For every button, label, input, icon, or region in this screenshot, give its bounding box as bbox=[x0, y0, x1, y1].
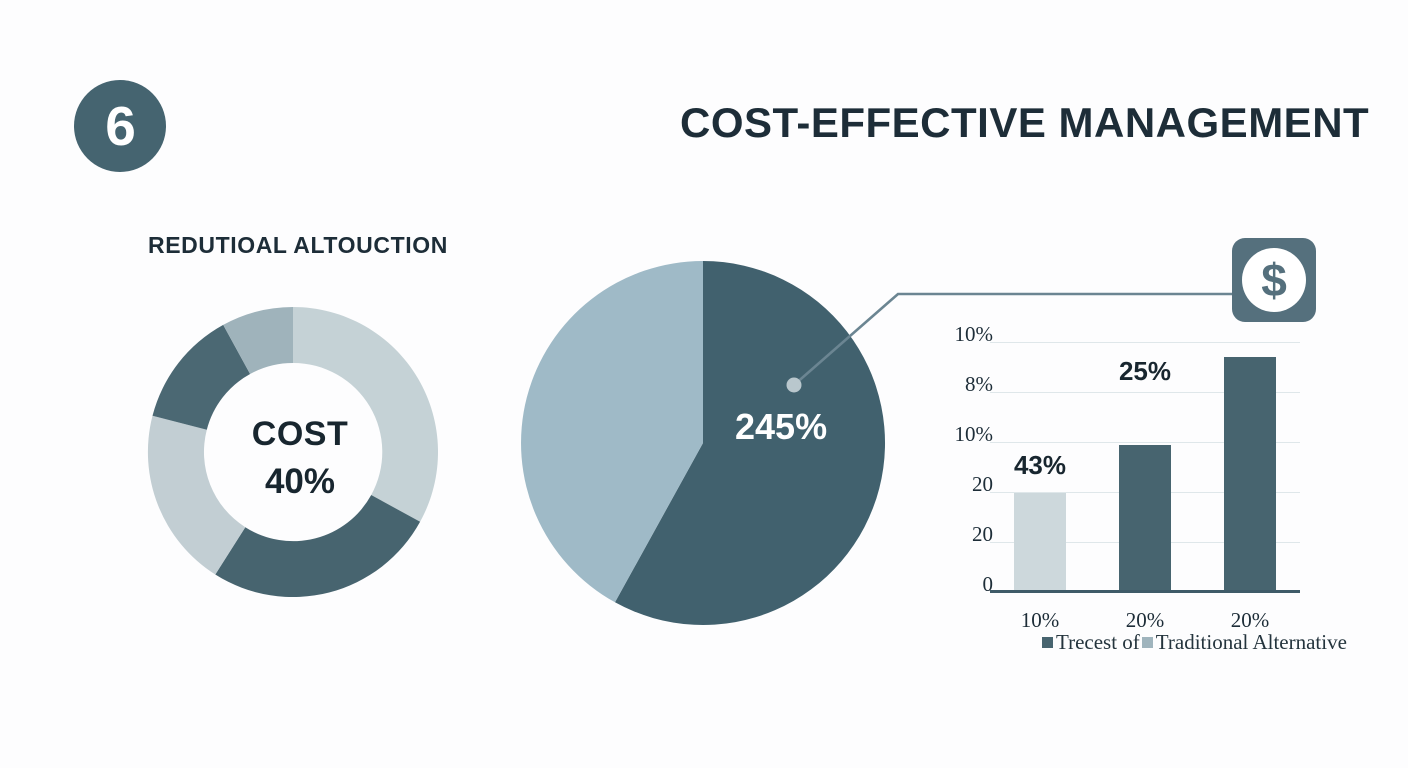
gridline-0 bbox=[990, 342, 1300, 343]
donut-slice-2[interactable] bbox=[215, 495, 420, 597]
legend-swatch-traditional bbox=[1142, 637, 1153, 648]
bar-chart-legend: Trecest of Traditional Alternative bbox=[1042, 630, 1347, 655]
legend-item-traditional[interactable]: Traditional Alternative bbox=[1142, 630, 1347, 655]
pie-slice-data-label: 245% bbox=[735, 406, 827, 448]
slide-number-badge: 6 bbox=[74, 80, 166, 172]
donut-chart: REDUTIOAL ALTOUCTION COST 40% bbox=[110, 232, 490, 632]
page-title: COST-EFFECTIVE MANAGEMENT bbox=[680, 99, 1369, 147]
bar-data-label-2: 25% bbox=[1085, 356, 1205, 387]
donut-chart-title: REDUTIOAL ALTOUCTION bbox=[148, 232, 448, 259]
y-axis-tick-1: 8% bbox=[965, 372, 993, 397]
slide-number-label: 6 bbox=[105, 99, 135, 154]
legend-item-trecest[interactable]: Trecest of bbox=[1042, 630, 1140, 655]
dollar-icon: $ bbox=[1232, 238, 1316, 322]
donut-center-value: 40% bbox=[110, 462, 490, 502]
cost-comparison-bar-chart: 10% 8% 10% 20 20 0 43% 25% bbox=[905, 318, 1325, 648]
bar-chart-plot-area: 43% 25% 10% 20% 20% T bbox=[990, 328, 1300, 590]
bar-column-3[interactable] bbox=[1224, 357, 1276, 590]
dollar-sign-glyph: $ bbox=[1261, 257, 1287, 303]
dollar-icon-circle: $ bbox=[1242, 248, 1306, 312]
slide-canvas: 6 COST-EFFECTIVE MANAGEMENT REDUTIOAL AL… bbox=[0, 0, 1408, 768]
donut-center-label: COST bbox=[110, 415, 490, 454]
y-axis-tick-2: 10% bbox=[955, 422, 994, 447]
bar-column-2-base[interactable] bbox=[1119, 445, 1171, 590]
y-axis-tick-0: 10% bbox=[955, 322, 994, 347]
donut-chart-svg bbox=[110, 274, 490, 634]
legend-label-trecest: Trecest of bbox=[1056, 630, 1140, 655]
legend-swatch-trecest bbox=[1042, 637, 1053, 648]
legend-label-traditional: Traditional Alternative bbox=[1156, 630, 1347, 655]
bar-column-1[interactable] bbox=[1014, 493, 1066, 590]
bar-data-label-1: 43% bbox=[980, 450, 1100, 481]
bar-segment-2-trecest[interactable] bbox=[1119, 445, 1171, 590]
bar-segment-3-trecest[interactable] bbox=[1224, 357, 1276, 590]
bar-segment-1-traditional[interactable] bbox=[1014, 493, 1066, 590]
leader-line-dot bbox=[787, 378, 802, 393]
x-axis-baseline bbox=[990, 590, 1300, 593]
